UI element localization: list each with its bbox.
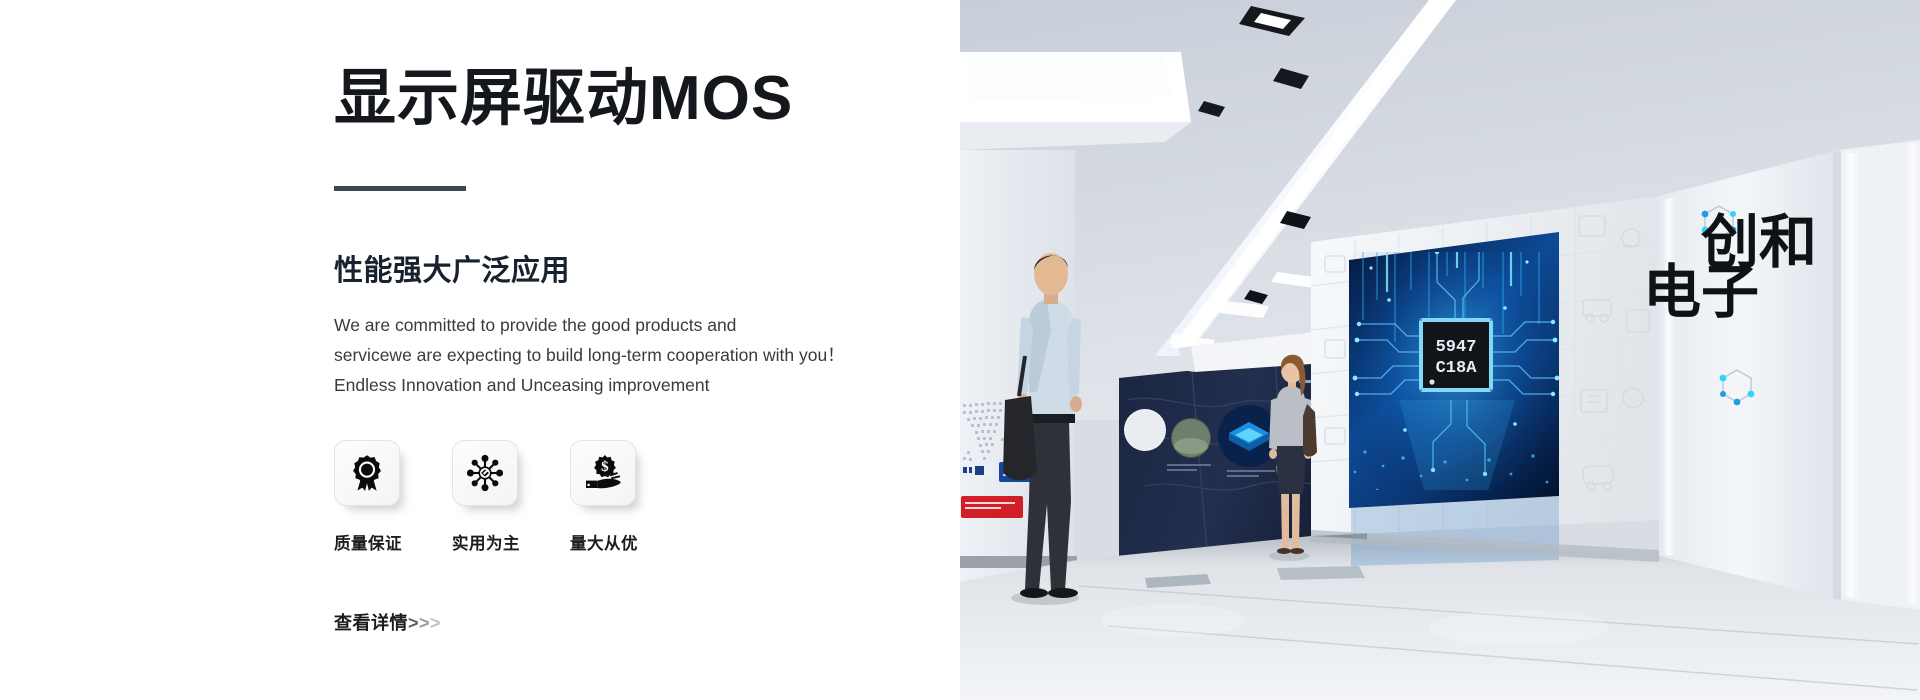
feature-list: 质量保证 xyxy=(334,440,914,554)
view-details-link[interactable]: 查看详情>>> xyxy=(334,609,441,635)
view-details-label: 查看详情 xyxy=(334,613,408,633)
feature-icon-tile: $ xyxy=(570,440,636,506)
left-text-panel: 显示屏驱动MOS 性能强大广泛应用 We are committed to pr… xyxy=(0,0,960,700)
chip-code-line1: 5947 xyxy=(1436,338,1477,357)
showroom-photo: 5947 C18A 创和 xyxy=(959,0,1920,700)
award-ribbon-icon xyxy=(347,453,387,493)
svg-text:$: $ xyxy=(601,460,609,476)
description-line-3: Endless Innovation and Unceasing improve… xyxy=(334,370,914,400)
subtitle: 性能强大广泛应用 xyxy=(334,247,914,289)
feature-item-bulk[interactable]: $ 量大从优 xyxy=(570,440,688,554)
description-paragraph: We are committed to provide the good pro… xyxy=(334,310,914,400)
description-line-1: We are committed to provide the good pro… xyxy=(334,310,914,340)
chevron-right-icon: >>> xyxy=(408,613,441,633)
hand-money-icon: $ xyxy=(583,453,623,493)
feature-item-quality[interactable]: 质量保证 xyxy=(334,440,452,554)
hero-banner: 显示屏驱动MOS 性能强大广泛应用 We are committed to pr… xyxy=(0,0,1920,700)
page-title: 显示屏驱动MOS xyxy=(334,62,914,135)
description-line-2: servicewe are expecting to build long-te… xyxy=(334,340,914,370)
title-divider xyxy=(334,186,466,191)
feature-label: 质量保证 xyxy=(334,530,452,554)
wall-sign-left-col: 电子 xyxy=(1643,260,1759,325)
showroom-illustration: 5947 C18A 创和 xyxy=(959,0,1920,700)
network-hub-icon xyxy=(465,453,505,493)
feature-icon-tile xyxy=(334,440,400,506)
content-block: 显示屏驱动MOS 性能强大广泛应用 We are committed to pr… xyxy=(334,62,914,635)
feature-label: 实用为主 xyxy=(452,530,570,554)
feature-label: 量大从优 xyxy=(570,530,688,554)
chip-code-line2: C18A xyxy=(1436,359,1478,378)
feature-icon-tile xyxy=(452,440,518,506)
feature-item-practical[interactable]: 实用为主 xyxy=(452,440,570,554)
